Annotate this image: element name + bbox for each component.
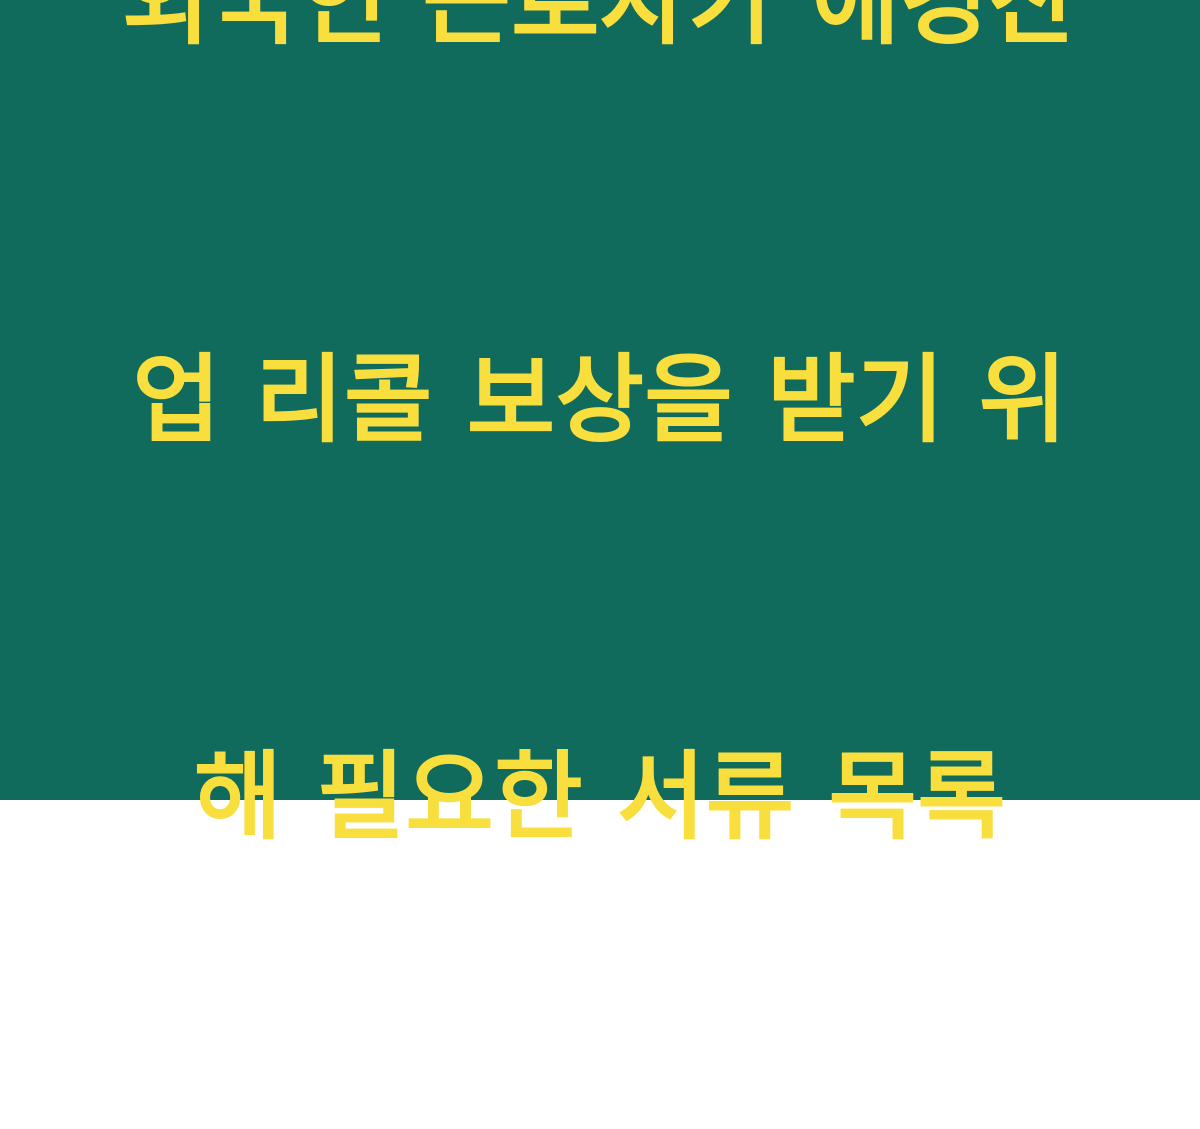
headline-line-3: 해 필요한 서류 목록 [70, 731, 1130, 863]
banner-card: 외국인 근로자가 애경산 업 리콜 보상을 받기 위 해 필요한 서류 목록 [0, 0, 1200, 800]
headline-text: 외국인 근로자가 애경산 업 리콜 보상을 받기 위 해 필요한 서류 목록 [70, 0, 1130, 1129]
headline-line-2: 업 리콜 보상을 받기 위 [70, 334, 1130, 466]
headline-line-1: 외국인 근로자가 애경산 [70, 0, 1130, 69]
